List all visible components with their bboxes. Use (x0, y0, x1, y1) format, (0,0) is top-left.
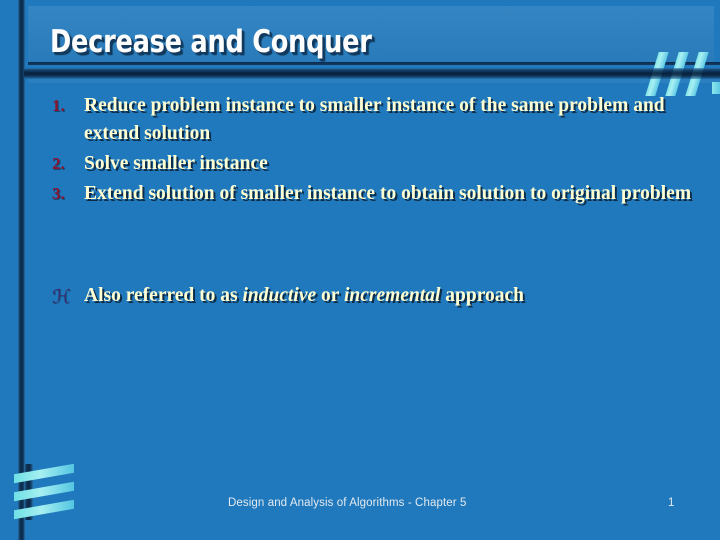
bottom-left-stripe-1 (14, 464, 74, 484)
page-title: Decrease and Conquer (50, 24, 372, 60)
list-marker: 1. (28, 92, 60, 120)
footer-label: Design and Analysis of Algorithms - Chap… (228, 497, 466, 509)
bottom-left-stripe-3 (14, 500, 74, 520)
list-marker: 2. (28, 150, 60, 178)
list-item: 2. Solve smaller instance (28, 150, 714, 178)
ornament-bullet-icon: ℋ (28, 282, 60, 312)
content-body: 1. Reduce problem instance to smaller in… (28, 92, 714, 314)
title-divider-bar (24, 68, 720, 79)
note-middle: or (316, 285, 344, 306)
list-item-text: Reduce problem instance to smaller insta… (60, 92, 714, 148)
list-item: 1. Reduce problem instance to smaller in… (28, 92, 714, 148)
note-item: ℋ Also referred to as inductive or incre… (28, 282, 714, 312)
title-underline (28, 62, 720, 65)
slide-canvas: Decrease and Conquer 1. Reduce problem i… (0, 0, 720, 540)
slash-overlay-bar (648, 68, 720, 79)
list-item-text: Extend solution of smaller instance to o… (60, 180, 714, 208)
list-item: 3. Extend solution of smaller instance t… (28, 180, 714, 208)
list-item-text: Solve smaller instance (60, 150, 714, 178)
note-prefix: Also referred to as (84, 285, 243, 306)
three-bars-icon (6, 464, 88, 520)
vertical-spacer (28, 210, 714, 282)
note-suffix: approach (440, 285, 524, 306)
three-slashes-icon (648, 52, 720, 96)
note-emphasis-2: incremental (344, 285, 440, 306)
note-item-text: Also referred to as inductive or increme… (60, 282, 714, 310)
footer-page-number: 1 (668, 497, 674, 509)
bottom-left-stripe-2 (14, 482, 74, 502)
title-divider-gap (28, 79, 720, 83)
vertical-rail-icon (18, 0, 25, 540)
note-emphasis-1: inductive (243, 285, 317, 306)
list-marker: 3. (28, 180, 60, 208)
